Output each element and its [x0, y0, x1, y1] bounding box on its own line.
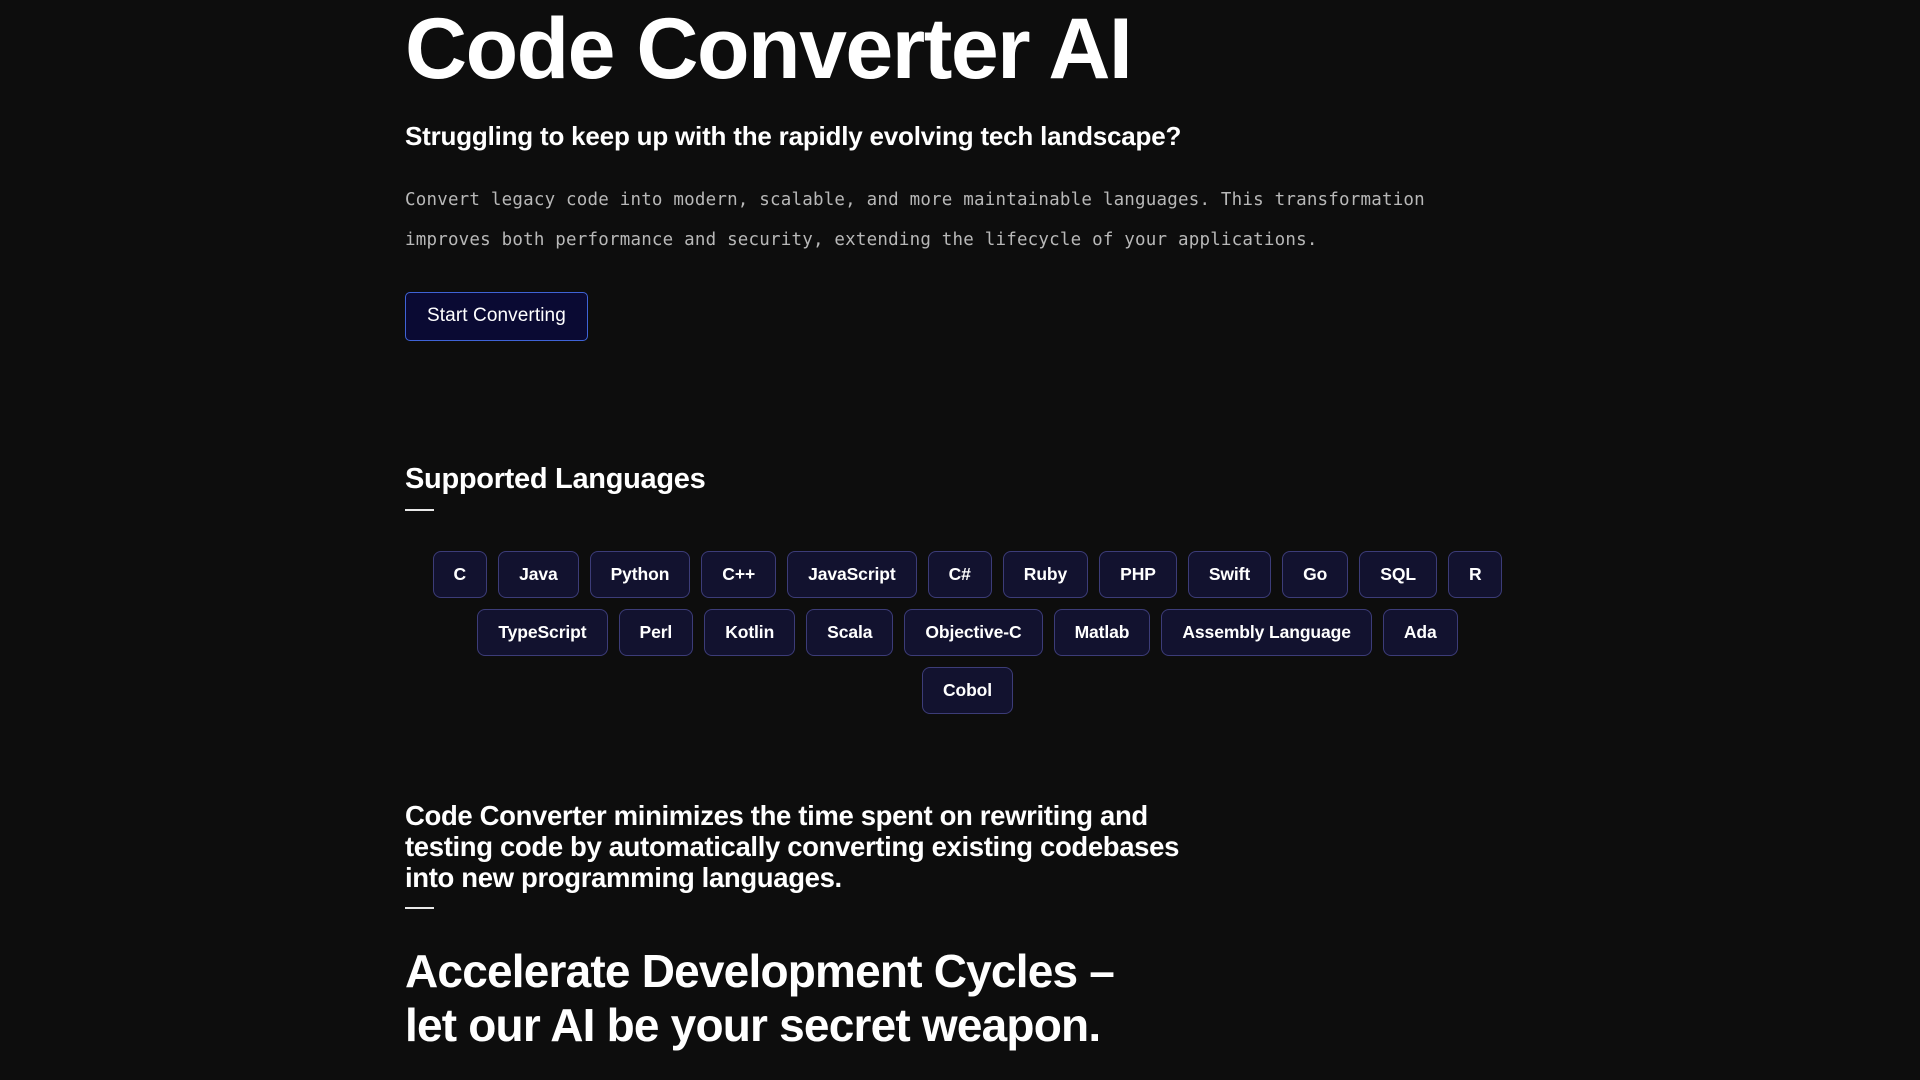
language-chip[interactable]: C#	[928, 551, 992, 598]
language-chip[interactable]: C++	[701, 551, 776, 598]
hero-subtitle: Struggling to keep up with the rapidly e…	[405, 120, 1505, 154]
headline-line-2: let our AI be your secret weapon.	[405, 999, 1100, 1051]
language-chip-row: TypeScript Perl Kotlin Scala Objective-C…	[405, 609, 1530, 656]
language-chip[interactable]: Assembly Language	[1161, 609, 1372, 656]
page-title: Code Converter AI	[405, 0, 1505, 94]
hero-section: Code Converter AI Struggling to keep up …	[405, 0, 1505, 341]
start-converting-button[interactable]: Start Converting	[405, 292, 588, 341]
language-chip[interactable]: Python	[590, 551, 691, 598]
language-chip[interactable]: Matlab	[1054, 609, 1151, 656]
language-chip[interactable]: Perl	[619, 609, 694, 656]
language-chip-row: Cobol	[405, 667, 1530, 714]
language-chip[interactable]: Ada	[1383, 609, 1458, 656]
heading-underline-rule	[405, 509, 434, 511]
headline-line-1: Accelerate Development Cycles –	[405, 945, 1114, 997]
language-chip-group: C Java Python C++ JavaScript C# Ruby PHP…	[405, 551, 1530, 714]
lead-underline-rule	[405, 907, 434, 909]
language-chip[interactable]: Ruby	[1003, 551, 1088, 598]
value-proposition-section: Code Converter minimizes the time spent …	[405, 800, 1405, 1053]
language-chip[interactable]: Kotlin	[704, 609, 795, 656]
value-proposition-headline: Accelerate Development Cycles – let our …	[405, 945, 1305, 1053]
language-chip[interactable]: TypeScript	[477, 609, 607, 656]
supported-languages-section: Supported Languages C Java Python C++ Ja…	[405, 462, 1525, 725]
language-chip-row: C Java Python C++ JavaScript C# Ruby PHP…	[405, 551, 1530, 598]
language-chip[interactable]: Java	[498, 551, 579, 598]
page-root: Code Converter AI Struggling to keep up …	[0, 0, 1920, 1080]
value-proposition-lead: Code Converter minimizes the time spent …	[405, 800, 1235, 893]
language-chip[interactable]: C	[433, 551, 488, 598]
language-chip[interactable]: Cobol	[922, 667, 1013, 714]
language-chip[interactable]: Objective-C	[904, 609, 1042, 656]
language-chip[interactable]: PHP	[1099, 551, 1177, 598]
supported-languages-heading: Supported Languages	[405, 462, 1525, 497]
language-chip[interactable]: R	[1448, 551, 1503, 598]
language-chip[interactable]: Swift	[1188, 551, 1271, 598]
language-chip[interactable]: JavaScript	[787, 551, 917, 598]
language-chip[interactable]: Go	[1282, 551, 1348, 598]
cta-container: Start Converting	[405, 292, 1505, 341]
language-chip[interactable]: Scala	[806, 609, 893, 656]
language-chip[interactable]: SQL	[1359, 551, 1437, 598]
hero-description: Convert legacy code into modern, scalabl…	[405, 180, 1475, 260]
